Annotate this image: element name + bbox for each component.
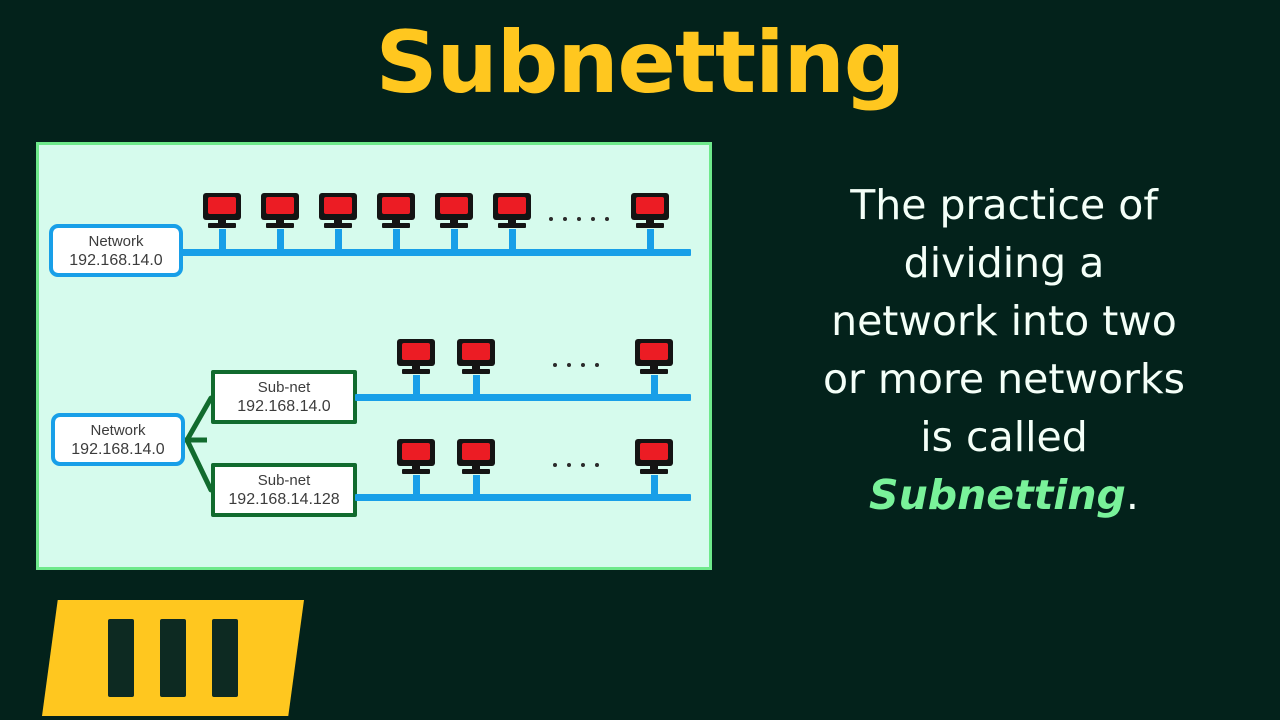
ellipsis-dot [567,363,571,367]
subnet-2-label-name: Sub-net [258,471,311,490]
top-network-label-address: 192.168.14.0 [69,251,162,270]
monitor-screen [440,197,468,214]
channel-logo-bars-icon [42,600,304,716]
host-computer-icon [635,439,673,475]
top-host-drop [335,229,342,251]
host-computer-icon [631,193,669,229]
monitor-base [402,469,430,474]
monitor-screen [636,197,664,214]
host-computer-icon [457,439,495,475]
definition-text: The practice of dividing a network into … [748,176,1260,524]
ellipsis-dot [553,463,557,467]
monitor-base [440,223,468,228]
monitor-base [266,223,294,228]
ellipsis-dot [549,217,553,221]
monitor-base [462,469,490,474]
ellipsis-dot [581,463,585,467]
subnet-2-label-address: 192.168.14.128 [228,490,339,509]
definition-period: . [1126,471,1139,519]
host-computer-icon [377,193,415,229]
subnet-1-ellipsis [553,363,599,367]
monitor-base [636,223,664,228]
definition-line-1: The practice of [748,176,1260,234]
top-network-label-box[interactable]: Network 192.168.14.0 [49,224,183,277]
network-diagram-panel: Network 192.168.14.0 Network 192.168.14.… [36,142,712,570]
top-host-drop [277,229,284,251]
ellipsis-dot [581,363,585,367]
monitor-base [498,223,526,228]
host-computer-icon [635,339,673,375]
definition-line-3: network into two [748,292,1260,350]
host-computer-icon [203,193,241,229]
definition-line-4: or more networks [748,350,1260,408]
branding-bar: Computer Networks [0,596,1280,720]
bottom-network-label-box[interactable]: Network 192.168.14.0 [51,413,185,466]
logo-bar [108,619,134,697]
host-computer-icon [493,193,531,229]
top-host-drop [451,229,458,251]
subnet-2-host-drop [413,475,420,497]
ellipsis-dot [577,217,581,221]
subnet-2-label-box[interactable]: Sub-net 192.168.14.128 [211,463,357,517]
subnet-2-host-drop [473,475,480,497]
ellipsis-dot [595,463,599,467]
subnet-2-host-drop [651,475,658,497]
monitor-screen [462,343,490,360]
host-computer-icon [397,339,435,375]
ellipsis-dot [605,217,609,221]
host-computer-icon [319,193,357,229]
top-host-drop [647,229,654,251]
subnet-1-host-drop [413,375,420,397]
ellipsis-dot [563,217,567,221]
subnet-2-bus [355,494,691,501]
ellipsis-dot [567,463,571,467]
bottom-network-label-name: Network [90,421,145,440]
top-host-drop [393,229,400,251]
logo-bar [212,619,238,697]
definition-line-2: dividing a [748,234,1260,292]
subnet-1-host-drop [651,375,658,397]
top-host-drop [509,229,516,251]
monitor-base [640,469,668,474]
monitor-base [462,369,490,374]
monitor-base [402,369,430,374]
subnet-2-ellipsis [553,463,599,467]
subnet-1-label-name: Sub-net [258,378,311,397]
bottom-network-label-address: 192.168.14.0 [71,440,164,459]
monitor-base [208,223,236,228]
definition-line-6: Subnetting. [748,466,1260,524]
ellipsis-dot [591,217,595,221]
monitor-screen [402,343,430,360]
monitor-screen [462,443,490,460]
monitor-base [324,223,352,228]
subnet-1-label-box[interactable]: Sub-net 192.168.14.0 [211,370,357,424]
ellipsis-dot [595,363,599,367]
host-computer-icon [435,193,473,229]
monitor-screen [640,343,668,360]
definition-line-5: is called [748,408,1260,466]
monitor-screen [382,197,410,214]
monitor-screen [266,197,294,214]
monitor-screen [498,197,526,214]
subnet-1-bus [355,394,691,401]
definition-highlight-term: Subnetting [869,471,1126,519]
monitor-base [382,223,410,228]
top-network-bus [179,249,691,256]
monitor-screen [640,443,668,460]
top-network-ellipsis [549,217,609,221]
page-title: Subnetting [0,8,1280,118]
host-computer-icon [397,439,435,475]
top-host-drop [219,229,226,251]
monitor-base [640,369,668,374]
host-computer-icon [457,339,495,375]
top-network-label-name: Network [88,232,143,251]
host-computer-icon [261,193,299,229]
subnet-1-label-address: 192.168.14.0 [237,397,330,416]
ellipsis-dot [553,363,557,367]
monitor-screen [402,443,430,460]
monitor-screen [208,197,236,214]
slide-root: Subnetting [0,0,1280,720]
subnet-1-host-drop [473,375,480,397]
monitor-screen [324,197,352,214]
logo-bar [160,619,186,697]
